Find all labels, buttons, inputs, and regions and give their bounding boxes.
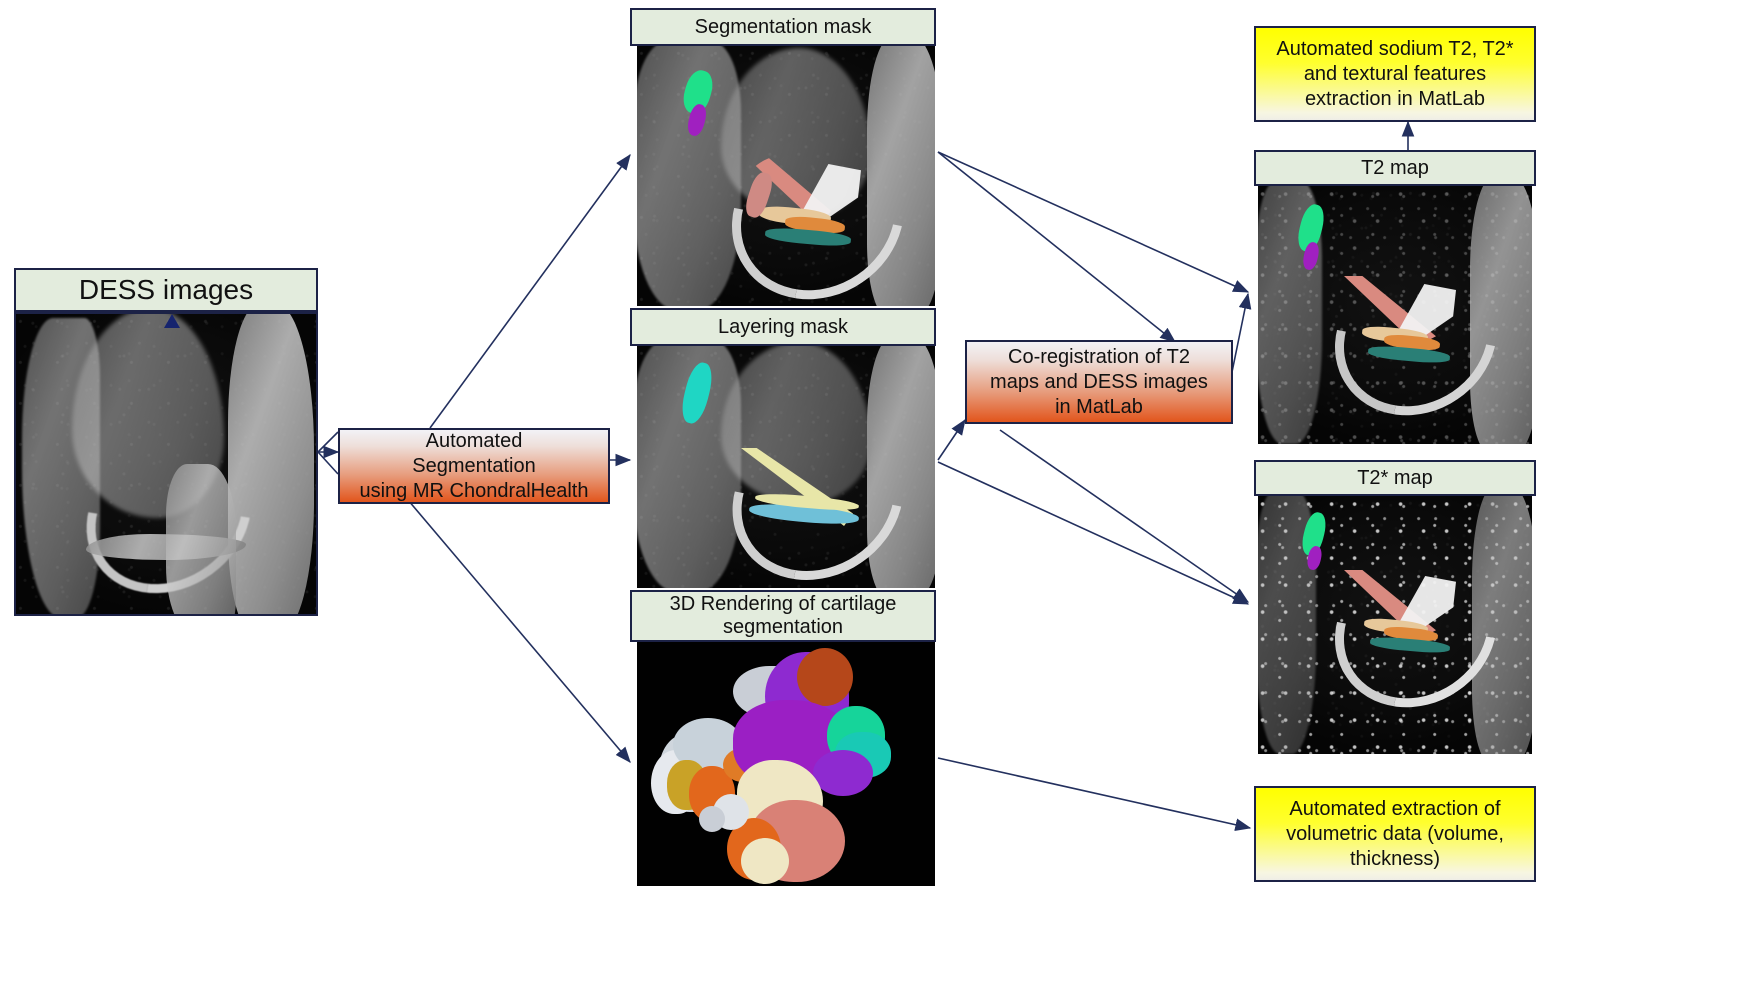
- arrow-coreg-to-t2star: [1000, 430, 1248, 602]
- arrow-mask-to-t2: [938, 152, 1248, 292]
- layering-mask-label: Layering mask: [718, 316, 848, 339]
- dess-label: DESS images: [79, 274, 253, 306]
- coregistration-process[interactable]: Co-registration of T2 maps and DESS imag…: [965, 340, 1233, 424]
- arrow-3d-to-volumetrics: [938, 758, 1250, 828]
- dess-header: DESS images: [14, 268, 318, 312]
- volumetrics-line-1: Automated extraction of: [1286, 797, 1504, 822]
- segmentation-mask-image: [637, 46, 935, 306]
- volumetrics-line-3: thickness): [1286, 847, 1504, 872]
- t2-map-image: [1258, 186, 1532, 444]
- t2-map-header: T2 map: [1254, 150, 1536, 186]
- t2star-map-label: T2* map: [1357, 467, 1433, 490]
- dess-image: [14, 312, 318, 616]
- rendering-3d-header: 3D Rendering of cartilage segmentation: [630, 590, 936, 642]
- t2star-map-image: [1258, 496, 1532, 754]
- arrow-layering-to-t2star: [938, 462, 1248, 604]
- layering-mask-image: [637, 346, 935, 588]
- segmentation-mask-label: Segmentation mask: [695, 16, 872, 39]
- coregistration-line-3: in MatLab: [990, 395, 1208, 420]
- arrow-layering-to-coreg: [938, 420, 965, 460]
- t2-map-label: T2 map: [1361, 157, 1429, 180]
- t2star-map-header: T2* map: [1254, 460, 1536, 496]
- features-line-1: Automated sodium T2, T2*: [1276, 37, 1513, 62]
- segmentation-mask-header: Segmentation mask: [630, 8, 936, 46]
- features-line-3: extraction in MatLab: [1276, 87, 1513, 112]
- segmentation-line-1: Automated: [359, 429, 588, 454]
- arrow-segmentation-to-3d: [408, 500, 630, 762]
- diagram-canvas: DESS images Automated Segmentation using…: [0, 0, 1740, 988]
- segmentation-line-3: using MR ChondralHealth: [359, 479, 588, 504]
- layering-mask-header: Layering mask: [630, 308, 936, 346]
- arrow-dess-branch-down: [318, 452, 338, 474]
- volumetrics-output[interactable]: Automated extraction of volumetric data …: [1254, 786, 1536, 882]
- rendering-3d-image: [637, 642, 935, 886]
- coregistration-line-2: maps and DESS images: [990, 370, 1208, 395]
- segmentation-line-2: Segmentation: [359, 454, 588, 479]
- arrow-coreg-to-t2: [1232, 294, 1248, 372]
- arrow-dess-branch-up: [318, 432, 338, 452]
- volumetrics-line-2: volumetric data (volume,: [1286, 822, 1504, 847]
- features-output[interactable]: Automated sodium T2, T2* and textural fe…: [1254, 26, 1536, 122]
- arrow-segmentation-to-mask: [430, 155, 630, 428]
- automated-segmentation-process[interactable]: Automated Segmentation using MR Chondral…: [338, 428, 610, 504]
- rendering-3d-label: 3D Rendering of cartilage segmentation: [632, 593, 934, 639]
- coregistration-line-1: Co-registration of T2: [990, 345, 1208, 370]
- features-line-2: and textural features: [1276, 62, 1513, 87]
- arrow-mask-to-coreg: [938, 152, 1175, 342]
